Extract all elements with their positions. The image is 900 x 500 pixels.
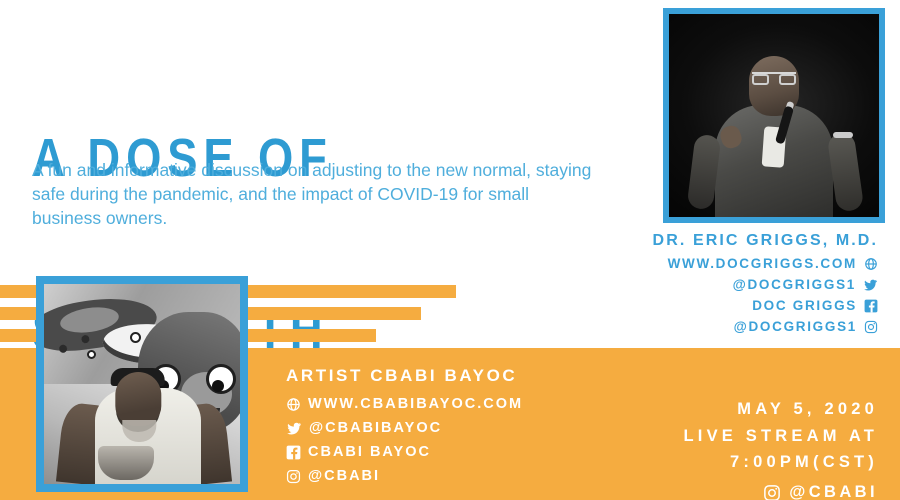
artist-link-website[interactable]: WWW.CBABIBAYOC.COM [286, 395, 523, 413]
artist-facebook-label: CBABI BAYOC [308, 443, 431, 461]
artist-twitter-label: @CBABIBAYOC [309, 419, 442, 437]
twitter-icon [863, 278, 878, 292]
artist-instagram-label: @CBABI [308, 467, 380, 485]
artist-name: ARTIST CBABI BAYOC [286, 366, 523, 386]
artist-link-twitter[interactable]: @CBABIBAYOC [286, 419, 523, 437]
doctor-contact-block: DR. ERIC GRIGGS, M.D. WWW.DOCGRIGGS.COM … [653, 232, 878, 340]
doctor-link-website[interactable]: WWW.DOCGRIGGS.COM [653, 256, 878, 273]
facebook-icon [864, 299, 878, 313]
artist-website-label: WWW.CBABIBAYOC.COM [308, 395, 523, 413]
doctor-portrait-image [669, 14, 879, 217]
instagram-icon [286, 469, 301, 484]
doctor-link-facebook[interactable]: DOC GRIGGS [653, 298, 878, 315]
event-instagram-handle[interactable]: @CBABI [684, 479, 878, 500]
poster-canvas: A DOSE OF STRENGTH A fun and informative… [0, 0, 900, 500]
twitter-icon [286, 421, 302, 436]
doctor-photo-frame [663, 8, 885, 223]
artist-link-facebook[interactable]: CBABI BAYOC [286, 443, 523, 461]
globe-icon [286, 397, 301, 412]
artist-photo-frame [36, 276, 248, 492]
event-stream-line-2: 7:00PM(CST) [684, 449, 878, 476]
doctor-link-twitter[interactable]: @DOCGRIGGS1 [653, 277, 878, 294]
facebook-icon [286, 445, 301, 460]
event-date: MAY 5, 2020 [684, 396, 878, 423]
doctor-twitter-label: @DOCGRIGGS1 [733, 277, 856, 294]
event-stream-line-1: LIVE STREAM AT [684, 423, 878, 450]
artist-contact-block: ARTIST CBABI BAYOC WWW.CBABIBAYOC.COM @C… [286, 366, 523, 492]
doctor-facebook-label: DOC GRIGGS [752, 298, 857, 315]
globe-icon [864, 257, 878, 271]
event-details-block: MAY 5, 2020 LIVE STREAM AT 7:00PM(CST) @… [684, 396, 878, 500]
subtitle-text: A fun and informative discussion on adju… [32, 158, 602, 230]
doctor-link-instagram[interactable]: @DOCGRIGGS1 [653, 319, 878, 336]
event-handle-label: @CBABI [789, 479, 878, 500]
doctor-instagram-label: @DOCGRIGGS1 [734, 319, 857, 336]
artist-link-instagram[interactable]: @CBABI [286, 467, 523, 485]
doctor-name: DR. ERIC GRIGGS, M.D. [653, 232, 878, 250]
instagram-icon [763, 484, 781, 500]
instagram-icon [864, 320, 878, 334]
artist-portrait-image [44, 284, 240, 484]
doctor-website-label: WWW.DOCGRIGGS.COM [668, 256, 857, 273]
